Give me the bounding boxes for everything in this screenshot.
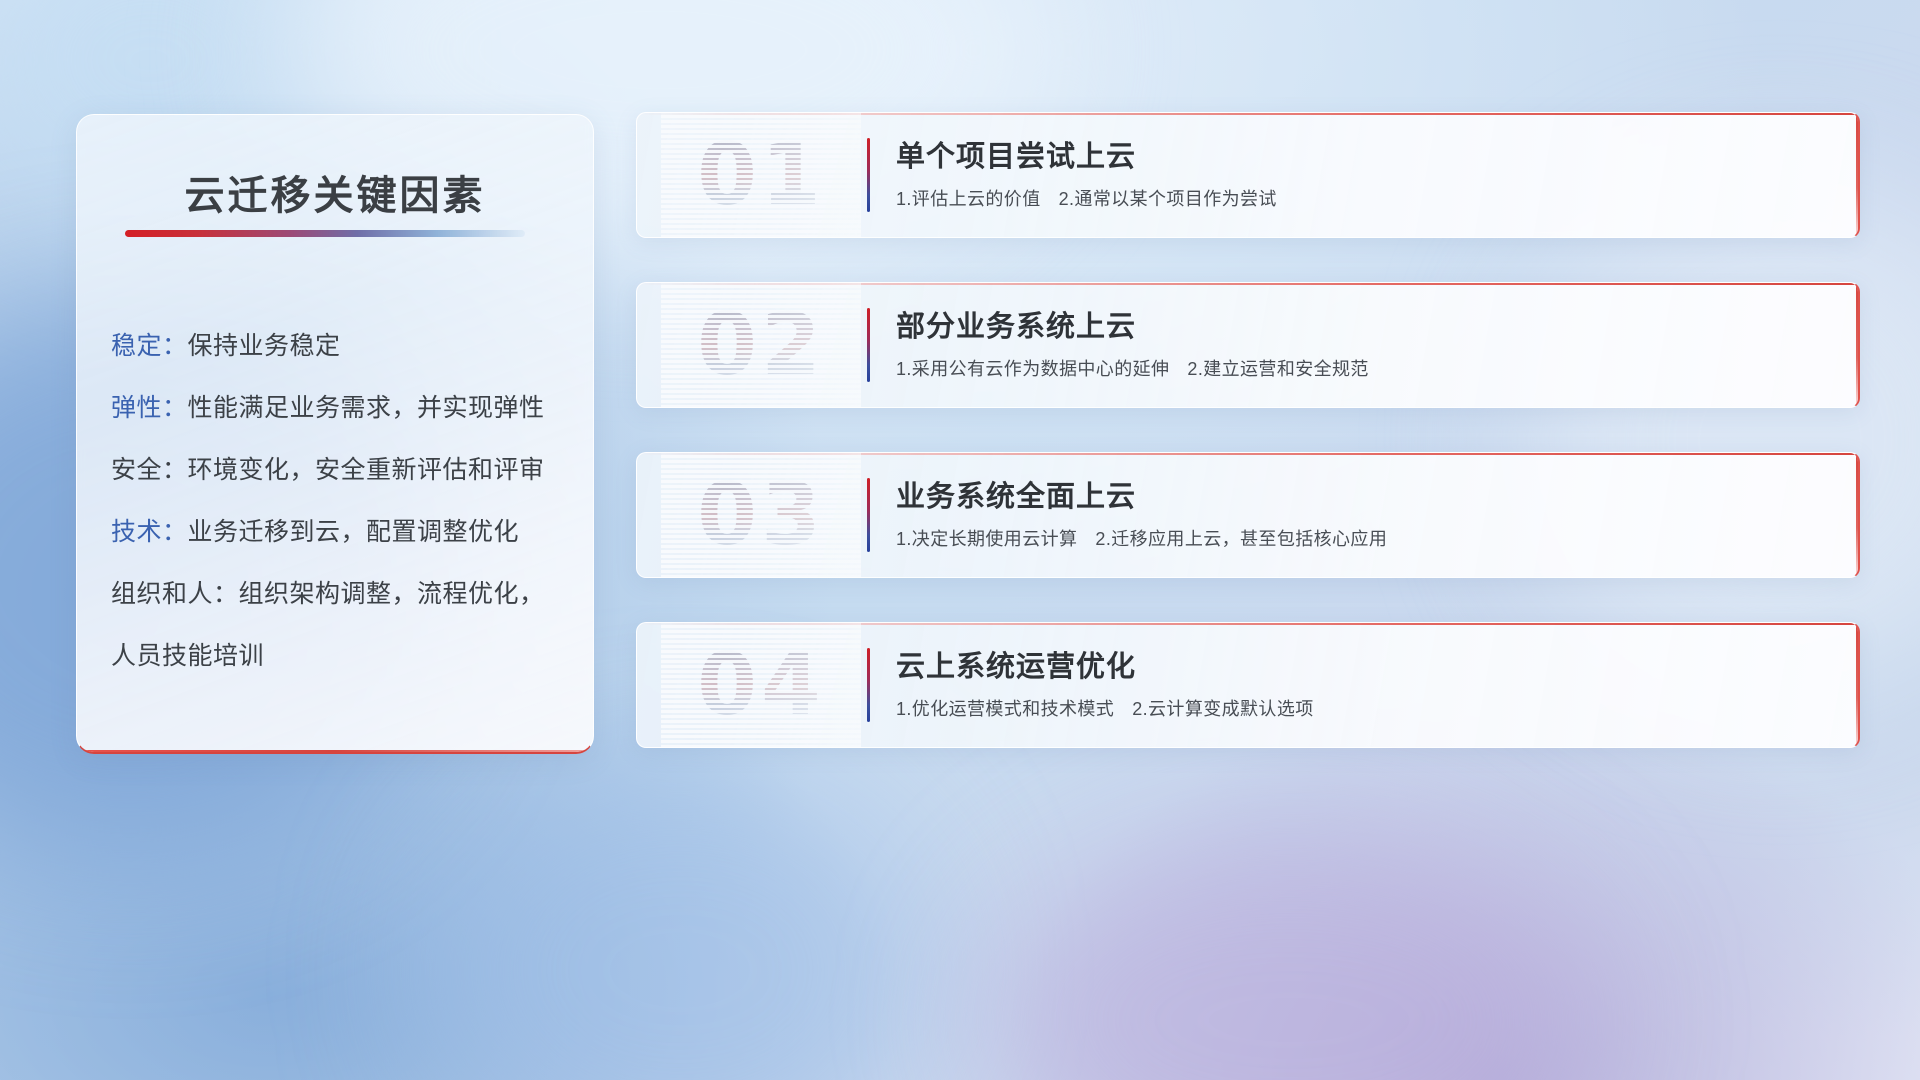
key-factor-line: 稳定：保持业务稳定 [111,315,569,377]
stage-card-text: 部分业务系统上云1.采用公有云作为数据中心的延伸2.建立运营和安全规范 [896,309,1858,381]
key-factors-list: 稳定：保持业务稳定弹性：性能满足业务需求，并实现弹性安全：环境变化，安全重新评估… [111,315,569,687]
stage-card-text: 单个项目尝试上云1.评估上云的价值2.通常以某个项目作为尝试 [896,139,1858,211]
stage-card-title: 业务系统全面上云 [896,479,1832,515]
stage-card-text: 云上系统运营优化1.优化运营模式和技术模式2.云计算变成默认选项 [896,649,1858,721]
stage-card-title: 云上系统运营优化 [896,649,1832,685]
stage-card-desc-item-2: 2.迁移应用上云，甚至包括核心应用 [1095,529,1387,549]
migration-stage-cards: 01单个项目尝试上云1.评估上云的价值2.通常以某个项目作为尝试02部分业务系统… [636,112,1860,792]
stage-card-description: 1.评估上云的价值2.通常以某个项目作为尝试 [896,185,1832,211]
key-factor-label: 组织和人： [111,580,239,608]
stage-card-description: 1.采用公有云作为数据中心的延伸2.建立运营和安全规范 [896,355,1832,381]
key-factor-label: 弹性： [111,394,188,422]
stage-card-desc-item-1: 1.决定长期使用云计算 [896,529,1077,549]
card-accent-divider [867,138,870,212]
stage-card-desc-item-2: 2.通常以某个项目作为尝试 [1059,189,1277,209]
stage-card-text: 业务系统全面上云1.决定长期使用云计算2.迁移应用上云，甚至包括核心应用 [896,479,1858,551]
key-factor-text: 组织架构调整，流程优化， [239,580,545,608]
stage-card-description: 1.决定长期使用云计算2.迁移应用上云，甚至包括核心应用 [896,525,1832,551]
key-factor-text: 保持业务稳定 [188,332,341,360]
stage-number-watermark: 02 [661,283,861,407]
card-accent-divider [867,478,870,552]
key-factor-text: 性能满足业务需求，并实现弹性 [188,394,545,422]
key-factor-line: 技术：业务迁移到云，配置调整优化 [111,501,569,563]
stage-card[interactable]: 01单个项目尝试上云1.评估上云的价值2.通常以某个项目作为尝试 [636,112,1860,238]
stage-number-watermark: 04 [661,623,861,747]
stage-number: 01 [697,132,825,218]
stage-number-watermark: 01 [661,113,861,237]
key-factor-line: 安全：环境变化，安全重新评估和评审 [111,439,569,501]
stage-number: 02 [697,302,825,388]
key-factor-text: 环境变化，安全重新评估和评审 [188,456,545,484]
stage-number-watermark: 03 [661,453,861,577]
stage-card-desc-item-2: 2.云计算变成默认选项 [1132,699,1313,719]
stage-card-title: 部分业务系统上云 [896,309,1832,345]
stage-number: 04 [697,642,825,728]
key-factor-label: 安全： [111,456,188,484]
key-factor-line: 弹性：性能满足业务需求，并实现弹性 [111,377,569,439]
key-factor-text: 人员技能培训 [111,642,264,670]
page-title: 云迁移关键因素 [185,163,486,221]
title-underline-rule [125,230,525,237]
key-factor-label: 稳定： [111,332,188,360]
stage-card-desc-item-1: 1.评估上云的价值 [896,189,1041,209]
key-factors-panel: 云迁移关键因素 稳定：保持业务稳定弹性：性能满足业务需求，并实现弹性安全：环境变… [76,114,594,754]
stage-card-desc-item-1: 1.优化运营模式和技术模式 [896,699,1114,719]
stage-card-desc-item-1: 1.采用公有云作为数据中心的延伸 [896,359,1169,379]
stage-card[interactable]: 03业务系统全面上云1.决定长期使用云计算2.迁移应用上云，甚至包括核心应用 [636,452,1860,578]
stage-card[interactable]: 02部分业务系统上云1.采用公有云作为数据中心的延伸2.建立运营和安全规范 [636,282,1860,408]
card-accent-divider [867,308,870,382]
stage-card-desc-item-2: 2.建立运营和安全规范 [1187,359,1368,379]
stage-card-title: 单个项目尝试上云 [896,139,1832,175]
card-accent-divider [867,648,870,722]
key-factor-text: 业务迁移到云，配置调整优化 [188,518,520,546]
key-factor-line: 组织和人：组织架构调整，流程优化， [111,563,569,625]
stage-card-description: 1.优化运营模式和技术模式2.云计算变成默认选项 [896,695,1832,721]
key-factor-label: 技术： [111,518,188,546]
key-factor-line: 人员技能培训 [111,625,569,687]
slide-root: 云迁移关键因素 稳定：保持业务稳定弹性：性能满足业务需求，并实现弹性安全：环境变… [0,0,1920,1080]
stage-card[interactable]: 04云上系统运营优化1.优化运营模式和技术模式2.云计算变成默认选项 [636,622,1860,748]
stage-number: 03 [697,472,825,558]
